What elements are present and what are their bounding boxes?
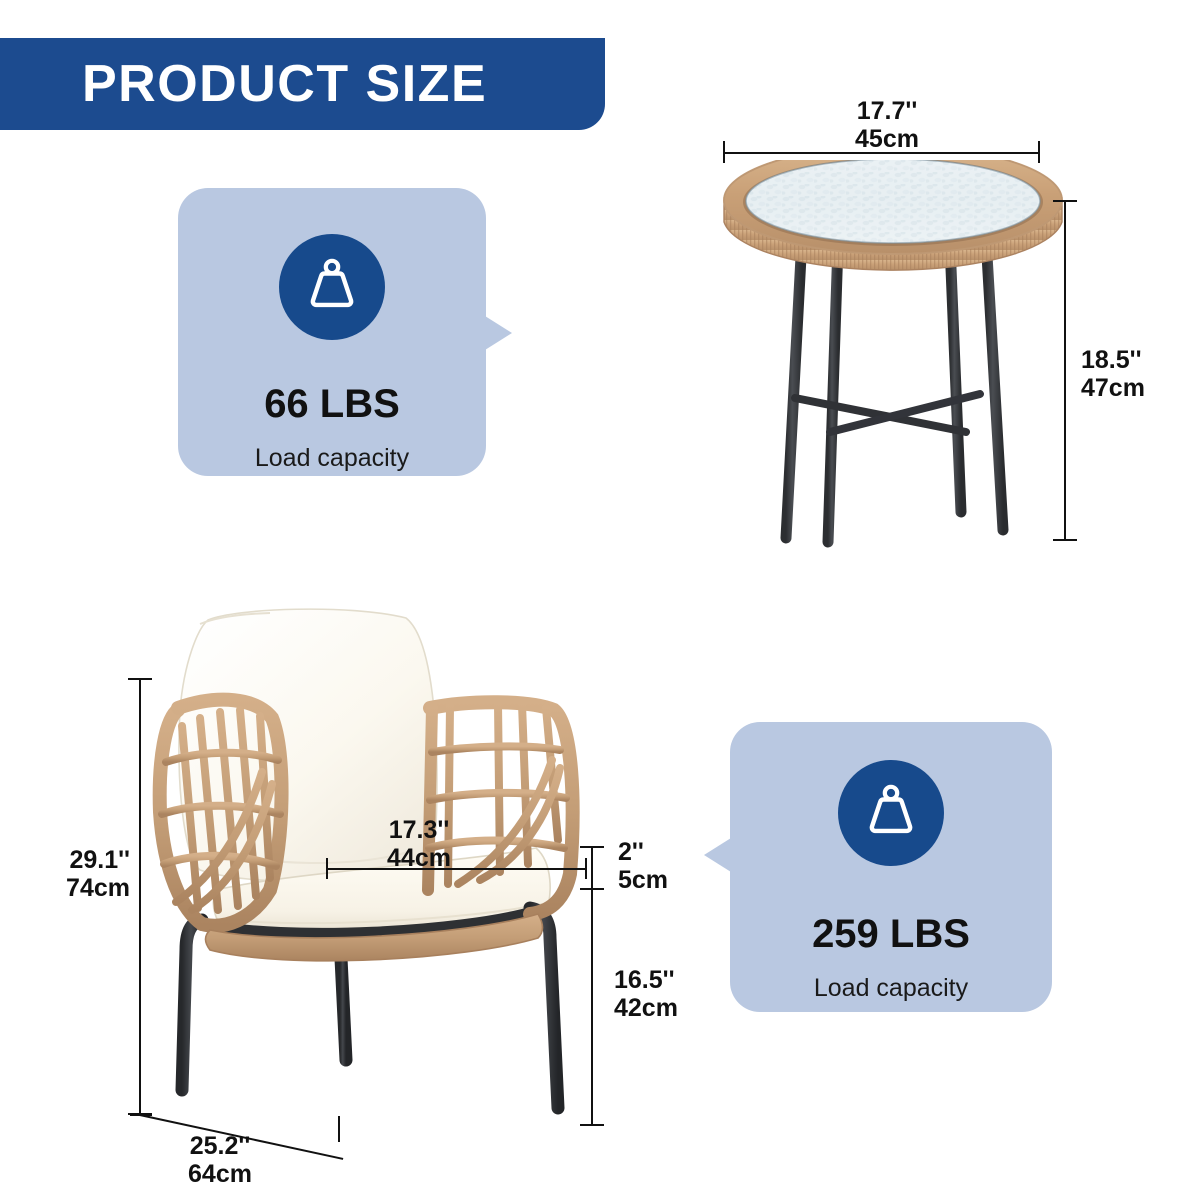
chair-cushion-label: 2'' 5cm [618, 838, 668, 894]
page-title: PRODUCT SIZE [82, 58, 487, 110]
weight-icon-circle [279, 234, 385, 340]
chair-seat-width-label: 17.3'' 44cm [334, 816, 504, 872]
rule-cap [130, 1114, 152, 1116]
table-height-label: 18.5'' 47cm [1081, 346, 1145, 402]
load-capacity-card-chair: 259 LBS Load capacity [730, 722, 1052, 1012]
table-legs [786, 238, 1003, 542]
load-capacity-label: Load capacity [255, 446, 409, 471]
chair-seat-width-rule [326, 868, 587, 870]
chair-height-rule [139, 678, 141, 1115]
weight-icon [301, 256, 363, 318]
rule-cap [1053, 200, 1077, 202]
chair-seat-height-rule [591, 890, 593, 1126]
chair-cushion-rule [591, 846, 593, 890]
chair-height-label: 29.1'' 74cm [44, 846, 130, 902]
rule-cap [585, 858, 587, 879]
table-top [724, 160, 1062, 270]
table-height-rule [1064, 200, 1066, 540]
rule-cap [580, 1124, 604, 1126]
rule-cap [1053, 539, 1077, 541]
rule-cap [128, 678, 152, 680]
rule-cap [580, 846, 604, 848]
speech-bubble-tail [485, 316, 512, 350]
speech-bubble-tail [704, 838, 731, 872]
side-table-illustration [718, 160, 1068, 560]
table-width-rule [723, 152, 1040, 154]
load-capacity-label: Load capacity [814, 976, 968, 1001]
rule-cap [1038, 141, 1040, 163]
weight-icon-circle [838, 760, 944, 866]
rule-cap [338, 1116, 340, 1142]
rule-cap [326, 858, 328, 879]
load-capacity-value: 66 LBS [264, 384, 400, 424]
chair-depth-label: 25.2'' 64cm [150, 1132, 290, 1188]
table-width-label: 17.7'' 45cm [792, 97, 982, 153]
weight-icon [860, 782, 922, 844]
rule-cap [723, 141, 725, 163]
product-size-banner: PRODUCT SIZE [0, 38, 605, 130]
chair-seat-height-label: 16.5'' 42cm [614, 966, 678, 1022]
load-capacity-card-table: 66 LBS Load capacity [178, 188, 486, 476]
load-capacity-value: 259 LBS [812, 914, 970, 954]
